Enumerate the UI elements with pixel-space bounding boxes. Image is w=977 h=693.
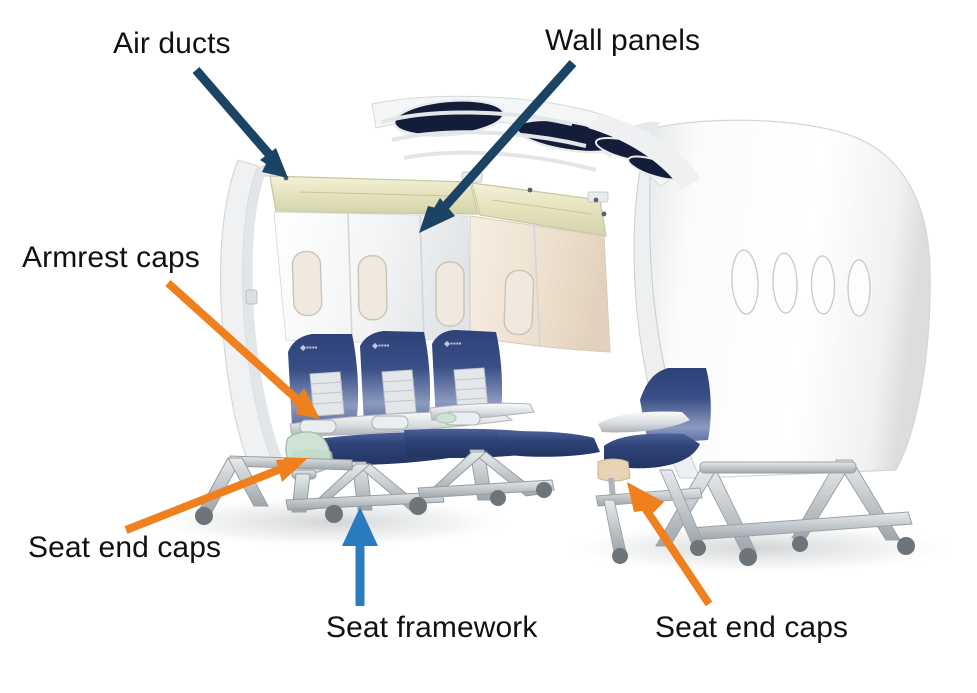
right-seat-back	[640, 368, 711, 444]
figure-canvas: ◆▪▪▪▪ ◆▪▪▪▪ ◆▪▪▪▪	[0, 0, 977, 693]
cabin-mockup-photo: ◆▪▪▪▪ ◆▪▪▪▪ ◆▪▪▪▪	[0, 0, 977, 693]
wall-panel-assembly	[274, 212, 610, 352]
air-duct-left	[270, 176, 478, 214]
armrest-cap-green-accent	[436, 413, 456, 423]
callout-label-air-ducts: Air ducts	[113, 29, 231, 59]
callout-label-seat-framework: Seat framework	[326, 613, 537, 643]
right-seat-end-cap	[598, 459, 630, 481]
svg-text:◆▪▪▪▪: ◆▪▪▪▪	[300, 343, 318, 352]
callout-label-wall-panels: Wall panels	[545, 26, 700, 56]
frame-latch	[246, 290, 257, 304]
svg-text:◆▪▪▪▪: ◆▪▪▪▪	[444, 339, 462, 348]
callout-label-armrest-caps: Armrest caps	[22, 243, 200, 273]
callout-label-seat-end-caps-right: Seat end caps	[655, 613, 848, 643]
svg-text:◆▪▪▪▪: ◆▪▪▪▪	[372, 341, 390, 350]
callout-label-seat-end-caps-left: Seat end caps	[28, 533, 221, 563]
